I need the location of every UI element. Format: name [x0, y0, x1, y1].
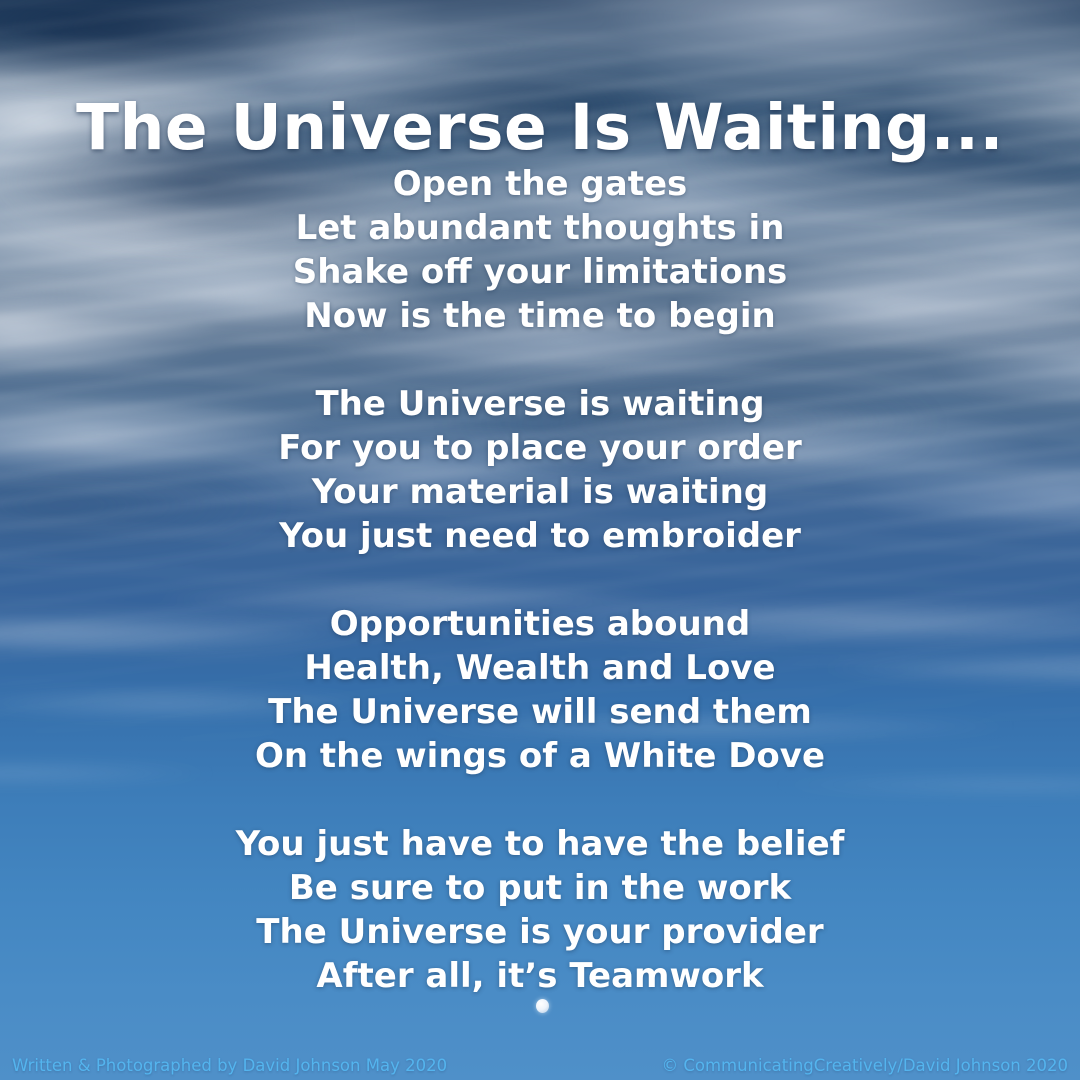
poem-title: The Universe Is Waiting... [0, 96, 1080, 159]
poem-line: Let abundant thoughts in [0, 206, 1080, 250]
poem-line: Health, Wealth and Love [0, 646, 1080, 690]
poem-body: Open the gates Let abundant thoughts in … [0, 162, 1080, 998]
poem-stanza: Open the gates Let abundant thoughts in … [0, 162, 1080, 338]
poster-content: The Universe Is Waiting... Open the gate… [0, 0, 1080, 1080]
credit-author: Written & Photographed by David Johnson … [12, 1056, 447, 1076]
poem-line: You just have to have the belief [0, 822, 1080, 866]
poem-line: Now is the time to begin [0, 294, 1080, 338]
moon-icon [536, 999, 549, 1013]
credit-copyright: © CommunicatingCreatively/David Johnson … [662, 1056, 1068, 1076]
poem-line: Your material is waiting [0, 470, 1080, 514]
poem-line: For you to place your order [0, 426, 1080, 470]
poem-stanza: The Universe is waiting For you to place… [0, 382, 1080, 558]
poem-poster: The Universe Is Waiting... Open the gate… [0, 0, 1080, 1080]
poem-line: Be sure to put in the work [0, 866, 1080, 910]
poem-line: The Universe will send them [0, 690, 1080, 734]
poem-line: You just need to embroider [0, 514, 1080, 558]
poem-line: Opportunities abound [0, 602, 1080, 646]
poem-stanza: Opportunities abound Health, Wealth and … [0, 602, 1080, 778]
poem-line: Shake off your limitations [0, 250, 1080, 294]
poem-stanza: You just have to have the belief Be sure… [0, 822, 1080, 998]
poem-line: On the wings of a White Dove [0, 734, 1080, 778]
poem-line: After all, it’s Teamwork [0, 954, 1080, 998]
poem-line: The Universe is waiting [0, 382, 1080, 426]
poem-line: The Universe is your provider [0, 910, 1080, 954]
poem-line: Open the gates [0, 162, 1080, 206]
